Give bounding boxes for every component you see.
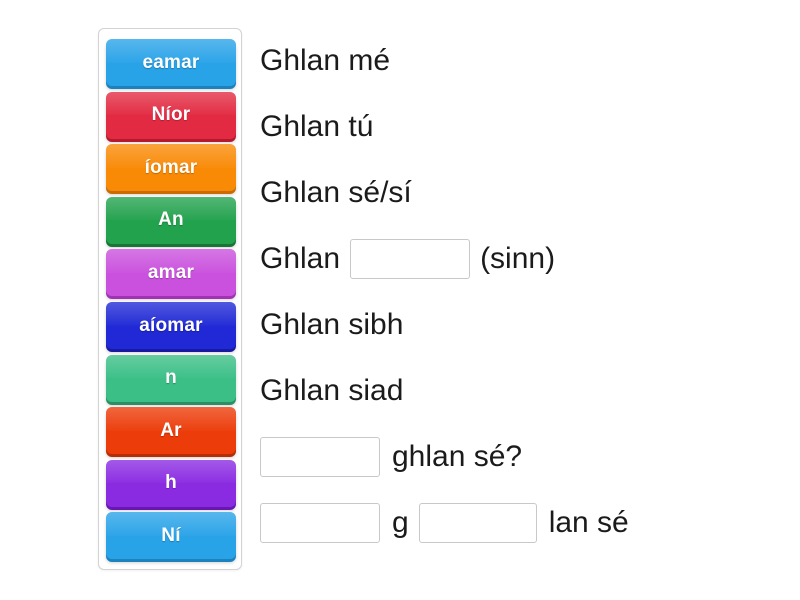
sentence-row-ghlan-me: Ghlan mé [260,28,780,94]
answer-tile[interactable]: Ní [106,512,236,559]
sentence-text: Ghlan sibh [260,310,403,340]
answer-tile[interactable]: Ar [106,407,236,454]
answer-tile[interactable]: eamar [106,39,236,86]
sentence-row-ghlan-siad: Ghlan siad [260,358,780,424]
answer-tile-label: Níor [152,104,191,126]
sentence-text-after: ghlan sé? [392,442,522,472]
answer-tile-label: íomar [145,157,198,179]
sentence-row-ghlan-sinn: Ghlan (sinn) [260,226,780,292]
answer-tile-label: An [158,209,184,231]
answer-tile[interactable]: n [106,355,236,402]
sentence-text: Ghlan siad [260,376,403,406]
sentence-text: Ghlan sé/sí [260,178,412,208]
sentence-row-ghlan-sibh: Ghlan sibh [260,292,780,358]
sentence-text-after: lan sé [549,508,629,538]
answer-tile-label: Ar [160,420,182,442]
answer-tile-label: n [165,367,177,389]
answer-tile[interactable]: aíomar [106,302,236,349]
answer-tiles-panel: eamarNíoríomarAnamaraíomarnArhNí [98,28,242,570]
answer-tile-label: Ní [161,525,180,547]
gap-input-question-2a[interactable] [260,503,380,543]
answer-tile-label: amar [148,262,194,284]
gap-input-question-2b[interactable] [419,503,537,543]
answer-tile[interactable]: íomar [106,144,236,191]
gap-input-sinn[interactable] [350,239,470,279]
sentence-text: Ghlan tú [260,112,373,142]
sentence-row-ghlan-tu: Ghlan tú [260,94,780,160]
sentence-row-ghlan-se-question: ghlan sé? [260,424,780,490]
answer-tile[interactable]: An [106,197,236,244]
sentence-text-middle: g [392,508,409,538]
sentence-text-before: Ghlan [260,244,340,274]
answer-tile-label: h [165,472,177,494]
sentence-text-after: (sinn) [480,244,555,274]
answer-tiles-list: eamarNíoríomarAnamaraíomarnArhNí [99,35,241,563]
answer-tile[interactable]: h [106,460,236,507]
gap-input-question-1[interactable] [260,437,380,477]
answer-tile[interactable]: amar [106,249,236,296]
sentence-row-ghlan-se-si: Ghlan sé/sí [260,160,780,226]
worksheet-page: eamarNíoríomarAnamaraíomarnArhNí Ghlan m… [0,0,800,600]
answer-tile-label: aíomar [139,315,203,337]
answer-tile-label: eamar [143,52,200,74]
sentence-rows: Ghlan mé Ghlan tú Ghlan sé/sí Ghlan (sin… [260,28,780,556]
answer-tile[interactable]: Níor [106,92,236,139]
sentence-text: Ghlan mé [260,46,390,76]
sentence-row-g-lan-se: g lan sé [260,490,780,556]
